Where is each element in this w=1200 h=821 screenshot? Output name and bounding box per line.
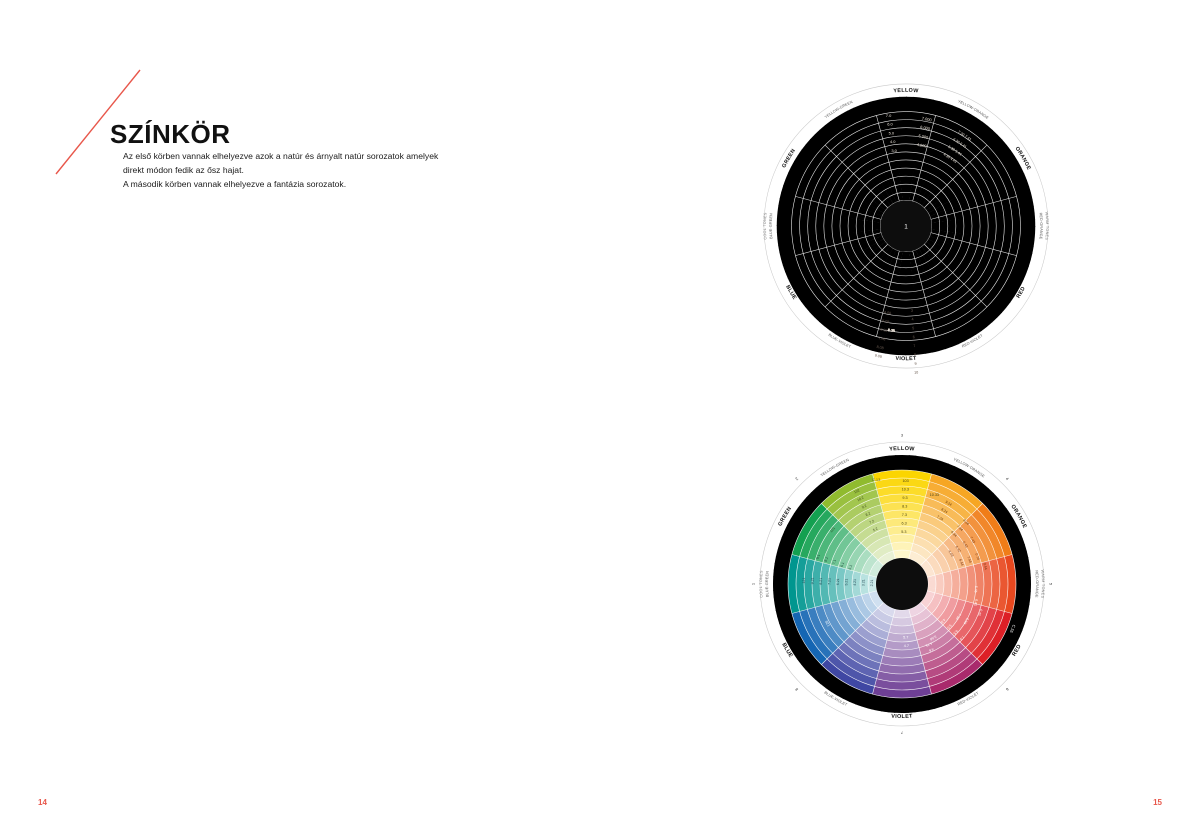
tone-group-label: COOL TONES — [759, 570, 764, 598]
shade-code: 2.21 — [870, 579, 874, 586]
shade-code: 7.3 — [902, 513, 907, 517]
wheel-index-number: 5 — [1049, 583, 1053, 586]
wheel-index-number: 8 — [794, 686, 800, 692]
intro-text: Az első körben vannak elhelyezve azok a … — [123, 150, 543, 192]
shade-code: C.13 — [872, 477, 881, 482]
wheel-index-number: 1 — [752, 582, 756, 585]
shade-code: 6.3 — [902, 522, 907, 526]
folio-right: 15 — [1153, 798, 1162, 807]
shade-code: 4.7 — [904, 644, 909, 648]
wheel-index-number: 2 — [794, 476, 800, 482]
shade-code: 6.21 — [836, 578, 840, 585]
sector-label-blue-green: BLUE-GREEN — [769, 213, 774, 239]
shade-code: 6.0 — [887, 122, 893, 127]
shade-code: 10 — [914, 371, 918, 374]
shade-code: 5 — [912, 326, 914, 330]
shade-code: 5.7 — [903, 635, 908, 639]
shade-code: 10.3 — [902, 488, 909, 492]
shade-code: 5.21 — [844, 579, 848, 586]
page-title: SZÍNKÖR — [110, 119, 231, 150]
wheel-index-number: 4 — [1005, 476, 1011, 482]
tone-group-label: WARM TONES — [1040, 569, 1045, 598]
sector-label-red-orange: RED-ORANGE — [1034, 570, 1039, 598]
shade-code: 5.46 — [974, 586, 978, 593]
shade-code: 3.0 — [891, 148, 897, 153]
wheel-index-number: 7 — [900, 731, 903, 736]
wheel-core-label: 1 — [904, 223, 908, 230]
sector-label-red-orange: RED-ORANGE — [1039, 212, 1044, 239]
wheel-index-number: 3 — [901, 433, 904, 438]
shade-code: 5.3 — [901, 530, 906, 534]
shade-code: 8 — [914, 353, 916, 357]
shade-code: 9.21 — [810, 577, 814, 584]
color-wheel-one: 1YELLOWYELLOW-ORANGEORANGERED-ORANGEREDR… — [758, 78, 1054, 374]
shade-code: 9 — [914, 362, 916, 366]
shade-code: 9.3 — [902, 496, 907, 500]
shade-code: 8.21 — [819, 578, 823, 585]
wheel-core — [876, 558, 928, 610]
shade-code: 7 — [913, 344, 915, 348]
sector-label-blue-green: BLUE-GREEN — [765, 571, 770, 598]
shade-code: 4 — [911, 317, 913, 321]
shade-code: 4.0 — [890, 139, 896, 144]
shade-code: 7.21 — [827, 578, 831, 585]
spread-page: SZÍNKÖR Az első körben vannak elhelyezve… — [0, 0, 1200, 821]
shade-code: 5.0 — [889, 130, 895, 135]
sector-label-yellow: YELLOW — [893, 88, 919, 95]
wheel-index-number: 6 — [1004, 687, 1010, 693]
shade-code: 10.33 — [930, 493, 939, 497]
tone-group-label: COOL TONES — [763, 212, 768, 240]
shade-code: 8.3 — [902, 505, 907, 509]
color-wheel-two: YELLOWYELLOW-ORANGEORANGERED-ORANGEREDRE… — [752, 428, 1052, 740]
sector-label-violet: VIOLET — [891, 714, 913, 720]
shade-code: 6 — [913, 335, 915, 339]
shade-code: 7.0 — [886, 113, 892, 118]
shade-code: 3.21 — [861, 579, 865, 586]
tone-group-label: WARM TONES — [1044, 212, 1049, 241]
intro-paragraph: Az első körben vannak elhelyezve azok a … — [123, 150, 543, 192]
shade-code: 3 — [911, 309, 913, 313]
sector-label-yellow: YELLOW — [889, 446, 915, 453]
folio-left: 14 — [38, 798, 47, 807]
shade-code: 9.08 — [874, 354, 882, 359]
shade-code: 4.21 — [853, 579, 857, 586]
shade-code: 103 — [902, 479, 908, 483]
shade-code: 121 — [802, 578, 806, 584]
